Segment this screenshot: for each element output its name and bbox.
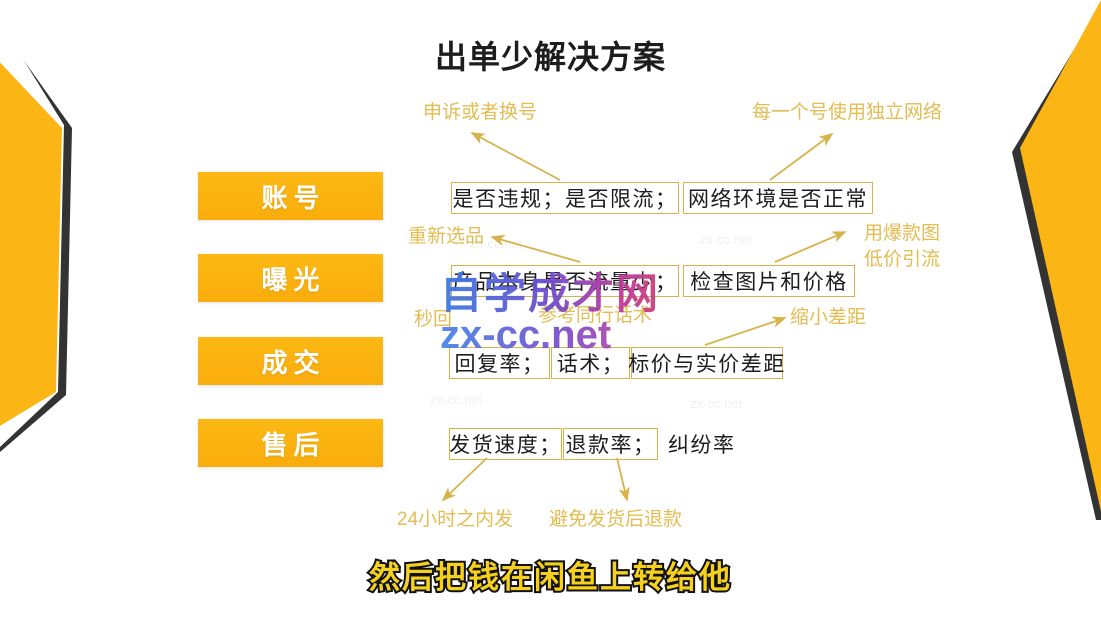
keybox-r3-c3[interactable]: 标价与实价差距 [631, 347, 783, 379]
arrow-r3-right [705, 318, 785, 345]
keybox-r3-c1[interactable]: 回复率； [449, 347, 550, 379]
arrow-r2-right [775, 232, 845, 262]
note-r1-appeal: 申诉或者换号 [423, 100, 537, 125]
watermark-faint-a: zx-cc.net [470, 236, 522, 251]
arrow-r1-right [770, 134, 832, 180]
stage-bar-exposure[interactable]: 曝光 [198, 254, 383, 302]
right-edge-decoration [976, 0, 1101, 625]
keybox-text: 退款率； [566, 429, 656, 459]
arrow-r4-right [617, 458, 627, 500]
stage-bar-transaction[interactable]: 成交 [198, 337, 383, 385]
note-r2-hotimage: 用爆款图 [864, 221, 940, 247]
arrow-r4-left [443, 458, 487, 500]
keybox-r1-c2[interactable]: 网络环境是否正常 [683, 182, 873, 214]
keybox-text: 是否违规；是否限流； [453, 183, 678, 213]
stage-label: 曝光 [255, 260, 325, 297]
watermark-faint-d: zx-cc.net [690, 396, 742, 411]
keybox-r3-c2[interactable]: 话术； [551, 347, 630, 379]
keybox-text: 网络环境是否正常 [688, 183, 868, 213]
keybox-text: 发货速度； [449, 429, 562, 459]
keybox-r2-c2[interactable]: 检查图片和价格 [683, 265, 855, 297]
left-edge-decoration [0, 0, 120, 625]
keybox-r2-c1[interactable]: 产品本身是否流量少； [451, 265, 679, 297]
keybox-text: 话术； [557, 348, 625, 378]
stage-bar-account[interactable]: 账号 [198, 172, 383, 220]
stage-label: 账号 [255, 178, 325, 215]
note-r3-narrowgap: 缩小差距 [790, 305, 866, 330]
keybox-r4-c2[interactable]: 退款率； [563, 428, 658, 460]
note-r3-peerscript: 参考同行话术 [538, 303, 652, 328]
keybox-r4-c1[interactable]: 发货速度； [449, 428, 562, 460]
note-r4-avoidrefund: 避免发货后退款 [549, 507, 682, 532]
stage-bar-aftersales[interactable]: 售后 [198, 419, 383, 467]
keybox-text: 标价与实价差距 [628, 348, 786, 378]
note-r1-network: 每一个号使用独立网络 [752, 100, 942, 125]
keybox-text: 回复率； [455, 348, 545, 378]
subtitle-caption: 然后把钱在闲鱼上转给他 [0, 552, 1101, 597]
note-r2-lowprice: 低价引流 [864, 247, 940, 273]
keybox-r1-c1[interactable]: 是否违规；是否限流； [451, 182, 679, 214]
watermark-faint-c: zx-cc.net [430, 392, 482, 407]
arrow-r1-left [472, 133, 560, 180]
keybox-text: 检查图片和价格 [690, 266, 848, 296]
stage-label: 成交 [255, 343, 325, 380]
plaintext-r4-c3: 纠纷率 [668, 428, 736, 460]
stage-label: 售后 [255, 425, 325, 462]
page-title: 出单少解决方案 [0, 32, 1101, 78]
keybox-text: 产品本身是否流量少； [453, 266, 678, 296]
watermark-faint-b: zx-cc.net [700, 232, 752, 247]
note-r3-instantreply: 秒回 [414, 307, 452, 332]
note-r4-ship24h: 24小时之内发 [397, 507, 513, 532]
plaintext-label: 纠纷率 [668, 429, 736, 459]
slide-canvas: 出单少解决方案 账号 曝光 成交 售后 [0, 0, 1101, 625]
